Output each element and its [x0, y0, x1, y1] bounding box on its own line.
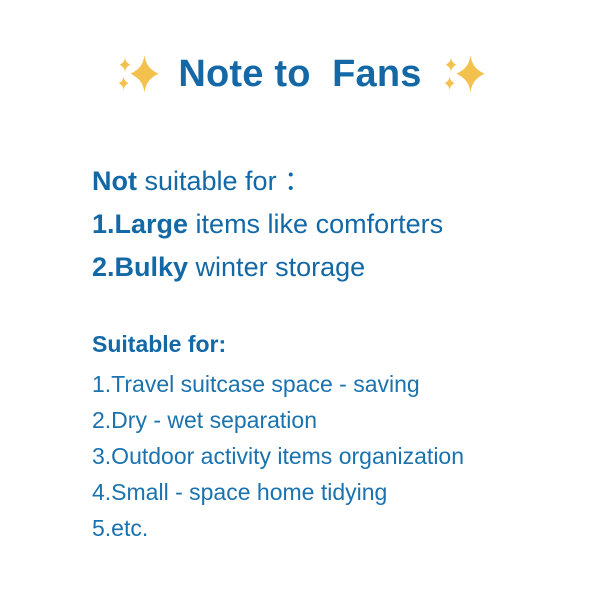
not-suitable-section: Not suitable for ： 1.Large items like co… — [92, 160, 562, 289]
not-suitable-heading: Not suitable for ： — [92, 160, 562, 203]
not-suitable-item-strong: 1.Large — [92, 209, 188, 239]
suitable-item: 5.etc. — [92, 510, 562, 546]
note-to-fans-poster: Note to Fans Not suitable for ： 1.Large … — [0, 0, 600, 600]
not-suitable-item-normal: winter storage — [188, 252, 365, 282]
suitable-heading: Suitable for: — [92, 328, 562, 360]
suitable-item: 3.Outdoor activity items organization — [92, 438, 562, 474]
not-suitable-item-normal: items like comforters — [188, 209, 443, 239]
not-suitable-item: 1.Large items like comforters — [92, 203, 562, 246]
suitable-item: 2.Dry - wet separation — [92, 402, 562, 438]
not-suitable-heading-strong: Not — [92, 166, 137, 196]
sparkles-icon — [114, 51, 160, 97]
suitable-section: Suitable for: 1.Travel suitcase space - … — [92, 328, 562, 546]
page-title: Note to Fans — [0, 46, 600, 102]
not-suitable-item: 2.Bulky winter storage — [92, 246, 562, 289]
not-suitable-heading-normal: suitable for ： — [137, 166, 311, 196]
sparkles-icon — [440, 51, 486, 97]
not-suitable-item-strong: 2.Bulky — [92, 252, 188, 282]
suitable-item: 1.Travel suitcase space - saving — [92, 366, 562, 402]
title-text: Note to Fans — [178, 55, 421, 93]
suitable-item: 4.Small - space home tidying — [92, 474, 562, 510]
